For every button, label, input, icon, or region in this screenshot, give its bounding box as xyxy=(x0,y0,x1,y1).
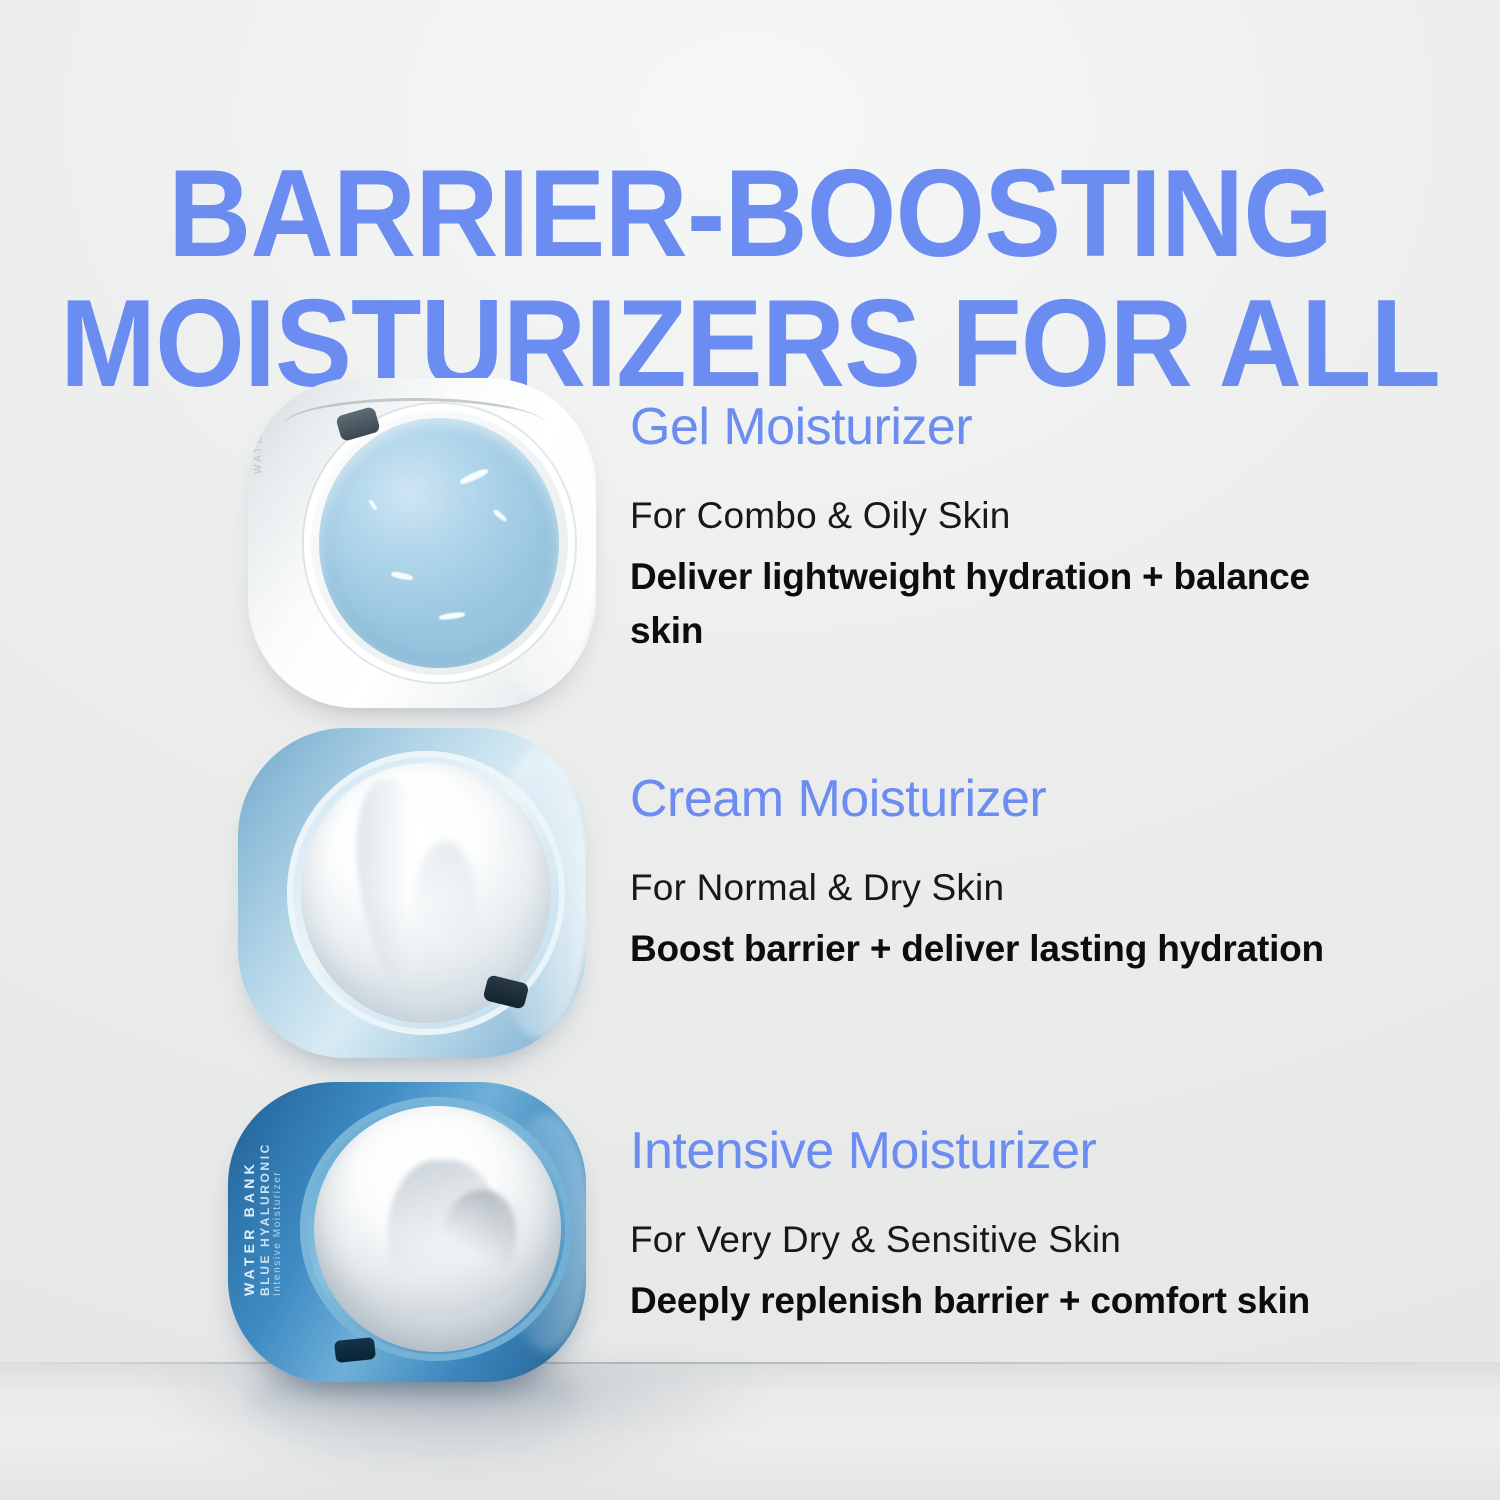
product-jar-cream xyxy=(238,728,586,1058)
jar-product-line: BLUE HYALURONIC xyxy=(259,1142,272,1296)
jar-brand-name: WATER BANK xyxy=(242,1142,257,1296)
cream-swirl-secondary xyxy=(411,841,476,1003)
jar-variant-name: Intensive Moisturizer xyxy=(273,1142,284,1296)
product-copy-cream: Cream Moisturizer For Normal & Dry Skin … xyxy=(630,770,1390,976)
jar-hinge-notch xyxy=(334,1337,376,1363)
product-skintype-gel: For Combo & Oily Skin xyxy=(630,490,1390,542)
cream-texture xyxy=(314,1106,561,1352)
product-copy-intensive: Intensive Moisturizer For Very Dry & Sen… xyxy=(630,1122,1390,1328)
product-skintype-intensive: For Very Dry & Sensitive Skin xyxy=(630,1214,1390,1266)
gel-texture xyxy=(319,418,559,669)
jar-brand-label: WATER BANK BLUE HYALURONIC Intensive Moi… xyxy=(242,1142,284,1296)
product-jar-gel: WATER BANK xyxy=(248,378,596,708)
product-benefit-gel: Deliver lightweight hydration + balance … xyxy=(630,550,1390,658)
product-title-intensive: Intensive Moisturizer xyxy=(630,1122,1390,1180)
product-copy-gel: Gel Moisturizer For Combo & Oily Skin De… xyxy=(630,398,1390,658)
product-benefit-cream: Boost barrier + deliver lasting hydratio… xyxy=(630,922,1390,976)
product-jar-intensive: WATER BANK BLUE HYALURONIC Intensive Moi… xyxy=(228,1082,586,1382)
product-title-gel: Gel Moisturizer xyxy=(630,398,1390,456)
product-benefit-intensive: Deeply replenish barrier + comfort skin xyxy=(630,1274,1390,1328)
product-title-cream: Cream Moisturizer xyxy=(630,770,1390,828)
cream-peak-secondary xyxy=(442,1190,516,1288)
page-title: BARRIER-BOOSTING MOISTURIZERS FOR ALL xyxy=(53,149,1448,409)
surface-horizon-line xyxy=(0,1362,1500,1364)
product-poster: BARRIER-BOOSTING MOISTURIZERS FOR ALL WA… xyxy=(0,0,1500,1500)
product-skintype-cream: For Normal & Dry Skin xyxy=(630,862,1390,914)
jar-side-embossing: WATER BANK xyxy=(253,378,264,474)
